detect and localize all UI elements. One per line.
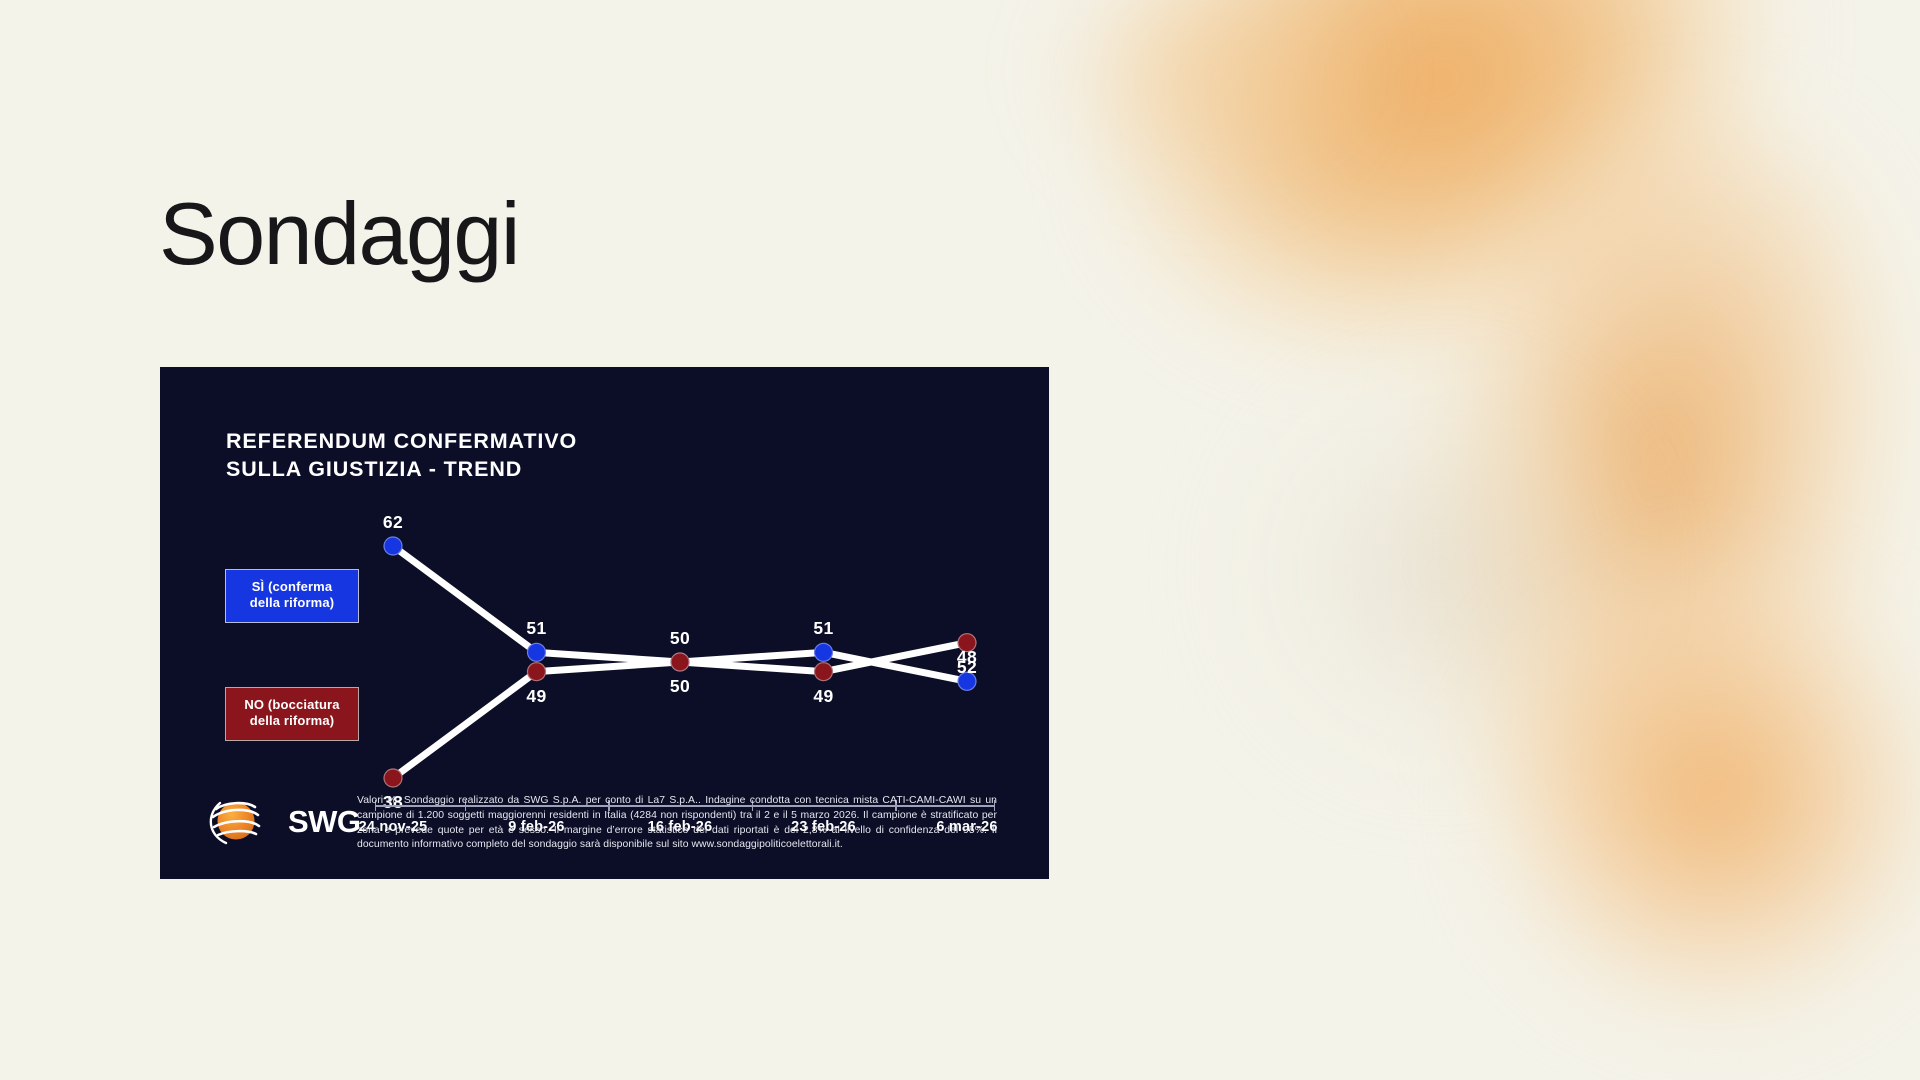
page-root: Sondaggi REFERENDUM CONFERMATIVO SULLA G… <box>0 0 1920 1080</box>
data-point-si-1[interactable] <box>528 644 545 661</box>
data-point-no-3[interactable] <box>815 663 832 680</box>
background-blob-orange-topleft <box>1040 0 1380 200</box>
legend-item-si: SÌ (conferma della riforma) <box>225 569 359 623</box>
data-point-no-0[interactable] <box>385 770 402 787</box>
background-blob-orange-right <box>1368 75 1920 905</box>
chart-title-line-1: REFERENDUM CONFERMATIVO <box>226 428 577 456</box>
value-label-si-0: 62 <box>383 512 403 533</box>
data-point-no-2[interactable] <box>672 654 689 671</box>
chart-series-svg <box>375 517 995 807</box>
poll-chart-card: REFERENDUM CONFERMATIVO SULLA GIUSTIZIA … <box>160 367 1049 879</box>
background-blob-orange-bottom <box>1480 560 1920 1030</box>
data-point-si-3[interactable] <box>815 644 832 661</box>
value-label-no-1: 49 <box>526 686 546 707</box>
legend-no-line-2: della riforma) <box>230 713 354 729</box>
legend-item-no: NO (bocciatura della riforma) <box>225 687 359 741</box>
data-point-si-0[interactable] <box>385 538 402 555</box>
data-point-no-1[interactable] <box>528 663 545 680</box>
background-blob-neutral <box>1230 360 1650 780</box>
chart-title: REFERENDUM CONFERMATIVO SULLA GIUSTIZIA … <box>226 428 577 483</box>
page-title: Sondaggi <box>159 190 519 278</box>
swg-wordmark: SWG <box>288 804 361 840</box>
legend-si-line-2: della riforma) <box>230 595 354 611</box>
legend-si-line-1: SÌ (conferma <box>230 579 354 595</box>
value-label-si-2: 50 <box>670 628 690 649</box>
background-blob-orange-top <box>1010 0 1869 469</box>
chart-title-line-2: SULLA GIUSTIZIA - TREND <box>226 456 577 484</box>
value-label-no-4: 52 <box>957 657 977 678</box>
chart-footnote: Valori %. Sondaggio realizzato da SWG S.… <box>357 794 997 853</box>
value-label-no-2: 50 <box>670 676 690 697</box>
value-label-no-3: 49 <box>813 686 833 707</box>
legend-no-line-1: NO (bocciatura <box>230 697 354 713</box>
value-label-si-1: 51 <box>526 618 546 639</box>
value-label-si-3: 51 <box>813 618 833 639</box>
chart-card-inner: REFERENDUM CONFERMATIVO SULLA GIUSTIZIA … <box>160 367 1049 879</box>
